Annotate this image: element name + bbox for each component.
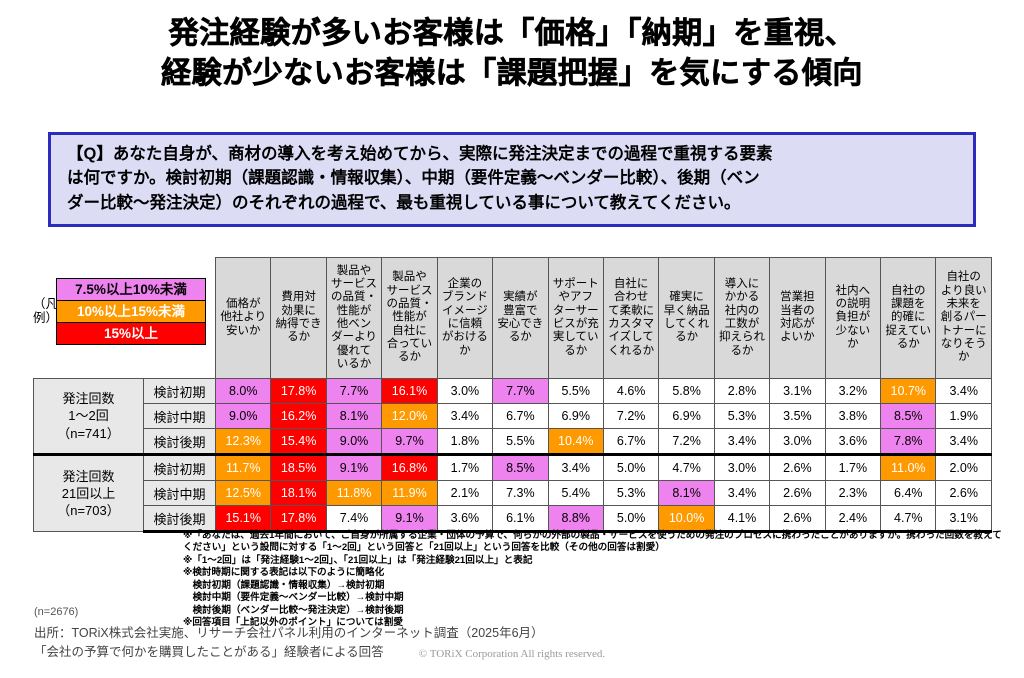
data-cell-g0-r0-c8: 5.8% bbox=[659, 379, 714, 404]
data-cell-g0-r0-c10: 3.1% bbox=[770, 379, 825, 404]
data-cell-g0-r2-c1: 15.4% bbox=[271, 429, 326, 455]
question-line-2: は何ですか。検討初期（課題認識・情報収集）、中期（要件定義～ベンダー比較）、後期… bbox=[67, 166, 957, 190]
column-header-line: 未来を bbox=[936, 298, 990, 311]
column-header-line: 自社の bbox=[936, 271, 990, 284]
row-group-label-line: 21回以上 bbox=[34, 485, 143, 502]
column-header-line: 合わせ bbox=[604, 291, 658, 304]
data-cell-g0-r1-c3: 12.0% bbox=[382, 404, 437, 429]
row-group-label-line: 発注回数 bbox=[34, 390, 143, 407]
data-cell-g1-r0-c12: 11.0% bbox=[881, 455, 936, 481]
data-cell-g0-r2-c10: 3.0% bbox=[770, 429, 825, 455]
column-header-line: ブランド bbox=[438, 291, 492, 304]
question-box: 【Q】あなた自身が、商材の導入を考え始めてから、実際に発注決定までの過程で重視す… bbox=[48, 132, 976, 227]
data-cell-g0-r0-c12: 10.7% bbox=[881, 379, 936, 404]
column-header-line: 他ベン bbox=[327, 318, 381, 331]
data-cell-g1-r2-c0: 15.1% bbox=[216, 506, 271, 532]
data-cell-g0-r1-c6: 6.9% bbox=[548, 404, 603, 429]
question-line-1: 【Q】あなた自身が、商材の導入を考え始めてから、実際に発注決定までの過程で重視す… bbox=[67, 142, 957, 166]
data-cell-g1-r2-c8: 10.0% bbox=[659, 506, 714, 532]
column-header-line: やアフ bbox=[549, 291, 603, 304]
data-cell-g1-r2-c1: 17.8% bbox=[271, 506, 326, 532]
data-cell-g0-r0-c7: 4.6% bbox=[603, 379, 658, 404]
data-cell-g1-r0-c2: 9.1% bbox=[326, 455, 381, 481]
sample-size: (n=2676) bbox=[34, 606, 78, 618]
column-header-line: 当者の bbox=[770, 305, 824, 318]
data-cell-g1-r1-c7: 5.3% bbox=[603, 481, 658, 506]
column-header-13: 自社のより良い未来を創るパートナーになりそうか bbox=[936, 258, 991, 379]
column-header-9: 導入にかかる社内の工数が抑えられるか bbox=[714, 258, 769, 379]
column-header-line: 自社に bbox=[382, 325, 436, 338]
column-header-line: るか bbox=[659, 331, 713, 344]
column-header-line: してくれ bbox=[659, 318, 713, 331]
data-cell-g1-r0-c6: 3.4% bbox=[548, 455, 603, 481]
footnote-line-1: ※「あなたは、過去1年間において、ご自身が所属する企業・団体の予算で、何らかの外… bbox=[183, 530, 1002, 542]
column-header-line: ビスが充 bbox=[549, 318, 603, 331]
data-cell-g0-r1-c1: 16.2% bbox=[271, 404, 326, 429]
column-header-line: よいか bbox=[770, 331, 824, 344]
column-header-line: 導入に bbox=[715, 278, 769, 291]
data-cell-g1-r2-c10: 2.6% bbox=[770, 506, 825, 532]
column-header-line: 社内へ bbox=[826, 285, 880, 298]
data-cell-g1-r0-c13: 2.0% bbox=[936, 455, 991, 481]
row-phase-label: 検討初期 bbox=[144, 379, 216, 404]
survey-heatmap-table: 価格が他社より安いか費用対効果に納得できるか製品やサービスの品質・性能が他ベンダ… bbox=[33, 257, 992, 533]
data-cell-g1-r0-c11: 1.7% bbox=[825, 455, 880, 481]
page-title-line-2: 経験が少ないお客様は「課題把握」を気にする傾向 bbox=[0, 54, 1024, 94]
data-cell-g0-r2-c7: 6.7% bbox=[603, 429, 658, 455]
table-body: 発注回数1～2回（n=741）検討初期8.0%17.8%7.7%16.1%3.0… bbox=[34, 379, 992, 532]
column-header-12: 自社の課題を的確に捉えているか bbox=[881, 258, 936, 379]
column-header-line: 費用対 bbox=[271, 291, 325, 304]
column-header-line: 課題を bbox=[881, 298, 935, 311]
data-cell-g0-r0-c6: 5.5% bbox=[548, 379, 603, 404]
column-header-line: 優れて bbox=[327, 345, 381, 358]
question-line-3: ダー比較～発注決定）のそれぞれの過程で、最も重視している事について教えてください… bbox=[67, 191, 957, 215]
column-header-line: イメージ bbox=[438, 305, 492, 318]
row-phase-label: 検討中期 bbox=[144, 404, 216, 429]
column-header-line: サポート bbox=[549, 278, 603, 291]
column-header-line: の説明 bbox=[826, 298, 880, 311]
data-cell-g1-r2-c13: 3.1% bbox=[936, 506, 991, 532]
column-header-line: 製品や bbox=[382, 271, 436, 284]
column-header-line: の品質・ bbox=[382, 298, 436, 311]
column-header-line: 創るパー bbox=[936, 311, 990, 324]
table-head: 価格が他社より安いか費用対効果に納得できるか製品やサービスの品質・性能が他ベンダ… bbox=[34, 258, 992, 379]
data-cell-g0-r1-c7: 7.2% bbox=[603, 404, 658, 429]
data-cell-g0-r0-c11: 3.2% bbox=[825, 379, 880, 404]
column-header-line: 性能が bbox=[382, 311, 436, 324]
table-row: 検討後期15.1%17.8%7.4%9.1%3.6%6.1%8.8%5.0%10… bbox=[34, 506, 992, 532]
data-cell-g0-r2-c3: 9.7% bbox=[382, 429, 437, 455]
data-cell-g1-r0-c10: 2.6% bbox=[770, 455, 825, 481]
data-cell-g1-r2-c6: 8.8% bbox=[548, 506, 603, 532]
data-cell-g0-r0-c0: 8.0% bbox=[216, 379, 271, 404]
data-cell-g1-r2-c7: 5.0% bbox=[603, 506, 658, 532]
data-cell-g1-r1-c2: 11.8% bbox=[326, 481, 381, 506]
footnote-line-3: ※「1～2回」は「発注経験1～2回」、「21回以上」は「発注経験21回以上」と表… bbox=[183, 555, 1002, 567]
column-header-line: 納得でき bbox=[271, 318, 325, 331]
footnote-line-7: 検討後期（ベンダー比較～発注決定）→検討後期 bbox=[183, 605, 1002, 617]
row-phase-label: 検討後期 bbox=[144, 506, 216, 532]
row-group-label-0: 発注回数1～2回（n=741） bbox=[34, 379, 144, 455]
data-cell-g1-r1-c3: 11.9% bbox=[382, 481, 437, 506]
column-header-line: 負担が bbox=[826, 311, 880, 324]
data-cell-g1-r1-c10: 2.6% bbox=[770, 481, 825, 506]
data-cell-g1-r0-c7: 5.0% bbox=[603, 455, 658, 481]
data-cell-g0-r2-c13: 3.4% bbox=[936, 429, 991, 455]
column-header-line: 自社に bbox=[604, 278, 658, 291]
column-header-line: 性能が bbox=[327, 305, 381, 318]
data-cell-g1-r0-c8: 4.7% bbox=[659, 455, 714, 481]
column-header-line: 少ない bbox=[826, 325, 880, 338]
data-cell-g0-r1-c11: 3.8% bbox=[825, 404, 880, 429]
data-cell-g1-r0-c1: 18.5% bbox=[271, 455, 326, 481]
data-cell-g0-r2-c8: 7.2% bbox=[659, 429, 714, 455]
column-header-4: 企業のブランドイメージに信頼がおけるか bbox=[437, 258, 492, 379]
data-cell-g1-r1-c13: 2.6% bbox=[936, 481, 991, 506]
column-header-6: サポートやアフターサービスが充実しているか bbox=[548, 258, 603, 379]
data-cell-g1-r1-c4: 2.1% bbox=[437, 481, 492, 506]
footnote-line-4: ※検討時期に関する表記は以下のように簡略化 bbox=[183, 567, 1002, 579]
data-cell-g0-r0-c4: 3.0% bbox=[437, 379, 492, 404]
footnote-line-5: 検討初期（課題認識・情報収集）→検討初期 bbox=[183, 580, 1002, 592]
table-row: 検討中期12.5%18.1%11.8%11.9%2.1%7.3%5.4%5.3%… bbox=[34, 481, 992, 506]
column-header-line: 自社の bbox=[881, 285, 935, 298]
column-header-0: 価格が他社より安いか bbox=[216, 258, 271, 379]
column-header-line: か bbox=[936, 351, 990, 364]
page-title: 発注経験が多いお客様は「価格」「納期」を重視、 経験が少ないお客様は「課題把握」… bbox=[0, 14, 1024, 94]
column-header-line: 社内の bbox=[715, 305, 769, 318]
data-cell-g1-r1-c6: 5.4% bbox=[548, 481, 603, 506]
column-header-7: 自社に合わせて柔軟にカスタマイズしてくれるか bbox=[603, 258, 658, 379]
table-row: 検討中期9.0%16.2%8.1%12.0%3.4%6.7%6.9%7.2%6.… bbox=[34, 404, 992, 429]
column-header-line: 的確に bbox=[881, 311, 935, 324]
column-header-line: サービス bbox=[327, 278, 381, 291]
row-group-label-line: （n=703） bbox=[34, 502, 143, 519]
data-cell-g0-r2-c6: 10.4% bbox=[548, 429, 603, 455]
column-header-line: 実してい bbox=[549, 331, 603, 344]
data-cell-g0-r2-c0: 12.3% bbox=[216, 429, 271, 455]
data-cell-g0-r0-c5: 7.7% bbox=[493, 379, 548, 404]
table-row: 発注回数1～2回（n=741）検討初期8.0%17.8%7.7%16.1%3.0… bbox=[34, 379, 992, 404]
data-cell-g1-r1-c5: 7.3% bbox=[493, 481, 548, 506]
column-header-line: なりそう bbox=[936, 338, 990, 351]
column-header-line: るか bbox=[382, 351, 436, 364]
column-header-line: るか bbox=[549, 345, 603, 358]
data-cell-g0-r1-c4: 3.4% bbox=[437, 404, 492, 429]
data-cell-g1-r0-c5: 8.5% bbox=[493, 455, 548, 481]
column-header-line: 早く納品 bbox=[659, 305, 713, 318]
column-header-2: 製品やサービスの品質・性能が他ベンダーより優れているか bbox=[326, 258, 381, 379]
column-header-line: ターサー bbox=[549, 305, 603, 318]
column-header-line: 価格が bbox=[216, 298, 270, 311]
column-header-line: て柔軟に bbox=[604, 305, 658, 318]
data-cell-g0-r1-c13: 1.9% bbox=[936, 404, 991, 429]
row-group-label-line: （n=741） bbox=[34, 425, 143, 442]
column-header-line: 確実に bbox=[659, 291, 713, 304]
data-cell-g1-r2-c5: 6.1% bbox=[493, 506, 548, 532]
data-cell-g0-r1-c0: 9.0% bbox=[216, 404, 271, 429]
column-header-line: の品質・ bbox=[327, 291, 381, 304]
column-header-line: 抑えられ bbox=[715, 331, 769, 344]
column-header-line: か bbox=[826, 338, 880, 351]
data-cell-g1-r2-c4: 3.6% bbox=[437, 506, 492, 532]
data-cell-g0-r1-c10: 3.5% bbox=[770, 404, 825, 429]
data-cell-g1-r1-c0: 12.5% bbox=[216, 481, 271, 506]
column-header-line: イズして bbox=[604, 331, 658, 344]
data-cell-g0-r1-c9: 5.3% bbox=[714, 404, 769, 429]
column-header-line: カスタマ bbox=[604, 318, 658, 331]
footnote-line-6: 検討中期（要件定義～ベンダー比較）→検討中期 bbox=[183, 592, 1002, 604]
data-cell-g0-r0-c1: 17.8% bbox=[271, 379, 326, 404]
column-header-line: 企業の bbox=[438, 278, 492, 291]
table-header-row: 価格が他社より安いか費用対効果に納得できるか製品やサービスの品質・性能が他ベンダ… bbox=[34, 258, 992, 379]
column-header-line: 豊富で bbox=[493, 305, 547, 318]
column-header-line: より良い bbox=[936, 285, 990, 298]
column-header-line: 合ってい bbox=[382, 338, 436, 351]
footnote-line-2: ください」という設問に対する「1～2回」という回答と「21回以上」という回答を比… bbox=[183, 542, 1002, 554]
column-header-line: くれるか bbox=[604, 345, 658, 358]
data-cell-g1-r2-c9: 4.1% bbox=[714, 506, 769, 532]
column-header-line: に信頼 bbox=[438, 318, 492, 331]
data-cell-g0-r2-c12: 7.8% bbox=[881, 429, 936, 455]
column-header-line: トナーに bbox=[936, 325, 990, 338]
row-phase-label: 検討後期 bbox=[144, 429, 216, 455]
data-cell-g0-r1-c12: 8.5% bbox=[881, 404, 936, 429]
data-cell-g1-r2-c3: 9.1% bbox=[382, 506, 437, 532]
header-spacer-group bbox=[34, 258, 144, 379]
data-cell-g0-r2-c2: 9.0% bbox=[326, 429, 381, 455]
data-cell-g1-r2-c2: 7.4% bbox=[326, 506, 381, 532]
page-title-line-1: 発注経験が多いお客様は「価格」「納期」を重視、 bbox=[0, 14, 1024, 54]
column-header-line: 営業担 bbox=[770, 291, 824, 304]
column-header-line: るか bbox=[715, 345, 769, 358]
data-cell-g0-r2-c11: 3.6% bbox=[825, 429, 880, 455]
data-cell-g0-r0-c13: 3.4% bbox=[936, 379, 991, 404]
data-cell-g1-r0-c3: 16.8% bbox=[382, 455, 437, 481]
table-row: 検討後期12.3%15.4%9.0%9.7%1.8%5.5%10.4%6.7%7… bbox=[34, 429, 992, 455]
column-header-line: 捉えてい bbox=[881, 325, 935, 338]
column-header-5: 実績が豊富で安心できるか bbox=[493, 258, 548, 379]
data-cell-g0-r1-c2: 8.1% bbox=[326, 404, 381, 429]
data-cell-g1-r1-c1: 18.1% bbox=[271, 481, 326, 506]
data-cell-g1-r1-c8: 8.1% bbox=[659, 481, 714, 506]
column-header-line: 安心でき bbox=[493, 318, 547, 331]
column-header-line: るか bbox=[271, 331, 325, 344]
column-header-line: ダーより bbox=[327, 331, 381, 344]
table-row: 発注回数21回以上（n=703）検討初期11.7%18.5%9.1%16.8%1… bbox=[34, 455, 992, 481]
data-cell-g1-r0-c0: 11.7% bbox=[216, 455, 271, 481]
data-cell-g0-r0-c2: 7.7% bbox=[326, 379, 381, 404]
copyright-notice: © TORiX Corporation All rights reserved. bbox=[0, 648, 1024, 660]
column-header-line: 対応が bbox=[770, 318, 824, 331]
column-header-line: 実績が bbox=[493, 291, 547, 304]
row-phase-label: 検討初期 bbox=[144, 455, 216, 481]
column-header-line: 製品や bbox=[327, 265, 381, 278]
data-cell-g0-r2-c5: 5.5% bbox=[493, 429, 548, 455]
column-header-10: 営業担当者の対応がよいか bbox=[770, 258, 825, 379]
data-cell-g1-r1-c11: 2.3% bbox=[825, 481, 880, 506]
column-header-line: 他社より bbox=[216, 311, 270, 324]
column-header-line: いるか bbox=[327, 358, 381, 371]
column-header-line: るか bbox=[881, 338, 935, 351]
footnotes: ※「あなたは、過去1年間において、ご自身が所属する企業・団体の予算で、何らかの外… bbox=[183, 530, 1002, 630]
column-header-8: 確実に早く納品してくれるか bbox=[659, 258, 714, 379]
data-cell-g0-r1-c8: 6.9% bbox=[659, 404, 714, 429]
data-cell-g0-r0-c3: 16.1% bbox=[382, 379, 437, 404]
column-header-line: 安いか bbox=[216, 325, 270, 338]
data-cell-g1-r0-c9: 3.0% bbox=[714, 455, 769, 481]
column-header-line: か bbox=[438, 345, 492, 358]
column-header-line: るか bbox=[493, 331, 547, 344]
row-phase-label: 検討中期 bbox=[144, 481, 216, 506]
row-group-label-1: 発注回数21回以上（n=703） bbox=[34, 455, 144, 532]
source-line-1: 出所：TORiX株式会社実施、リサーチ会社パネル利用のインターネット調査（202… bbox=[34, 624, 544, 643]
data-cell-g0-r2-c9: 3.4% bbox=[714, 429, 769, 455]
column-header-line: がおける bbox=[438, 331, 492, 344]
data-cell-g0-r1-c5: 6.7% bbox=[493, 404, 548, 429]
data-cell-g0-r2-c4: 1.8% bbox=[437, 429, 492, 455]
column-header-line: 工数が bbox=[715, 318, 769, 331]
data-cell-g1-r0-c4: 1.7% bbox=[437, 455, 492, 481]
data-cell-g0-r0-c9: 2.8% bbox=[714, 379, 769, 404]
column-header-3: 製品やサービスの品質・性能が自社に合っているか bbox=[382, 258, 437, 379]
data-cell-g1-r1-c12: 6.4% bbox=[881, 481, 936, 506]
column-header-line: かかる bbox=[715, 291, 769, 304]
row-group-label-line: 1～2回 bbox=[34, 407, 143, 424]
row-group-label-line: 発注回数 bbox=[34, 468, 143, 485]
column-header-1: 費用対効果に納得できるか bbox=[271, 258, 326, 379]
column-header-11: 社内への説明負担が少ないか bbox=[825, 258, 880, 379]
data-cell-g1-r2-c11: 2.4% bbox=[825, 506, 880, 532]
header-spacer-phase bbox=[144, 258, 216, 379]
column-header-line: サービス bbox=[382, 285, 436, 298]
data-cell-g1-r1-c9: 3.4% bbox=[714, 481, 769, 506]
data-cell-g1-r2-c12: 4.7% bbox=[881, 506, 936, 532]
column-header-line: 効果に bbox=[271, 305, 325, 318]
